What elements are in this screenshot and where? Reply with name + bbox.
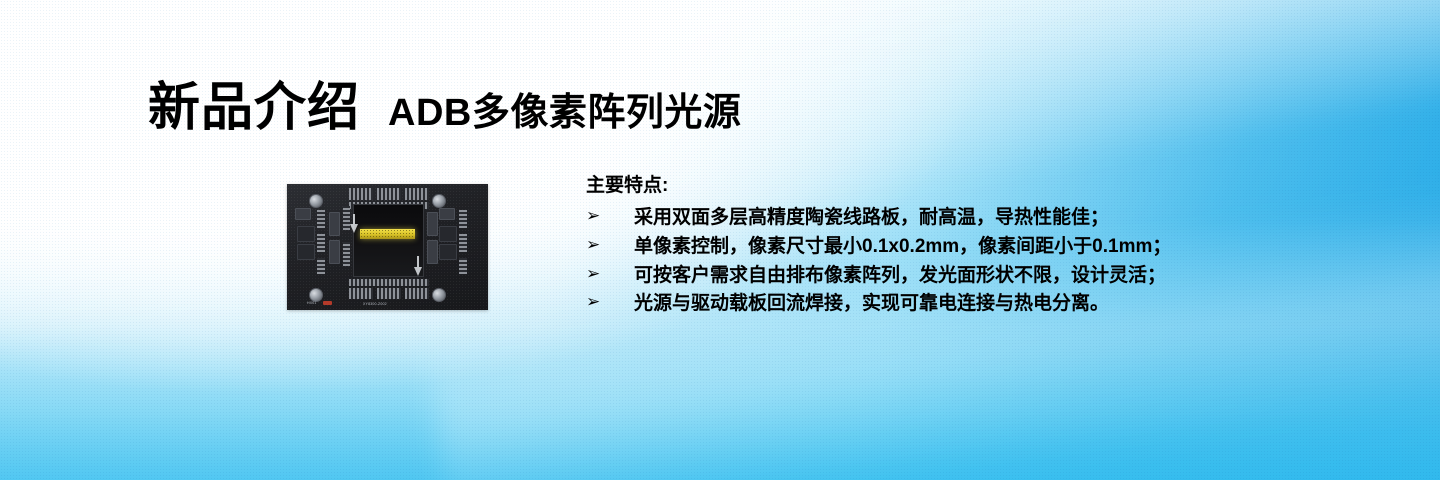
feature-item: ➢ 光源与驱动载板回流焊接，实现可靠电连接与热电分离。 [586, 292, 1326, 316]
title-subtitle-text: ADB多像素阵列光源 [388, 94, 741, 132]
pad-row-left-2 [317, 234, 325, 252]
led-pixel-array [360, 229, 414, 238]
page-title: 新品介绍 ADB多像素阵列光源 [148, 82, 741, 134]
feature-text: 光源与驱动载板回流焊接，实现可靠电连接与热电分离。 [634, 292, 1109, 316]
mounting-hole-bottom-right [432, 288, 446, 302]
pad-row-bottom-1 [349, 288, 373, 299]
component-left-5 [329, 240, 340, 264]
product-photo: HX01 XY8300-Z002 [287, 184, 488, 310]
component-right-5 [427, 240, 438, 264]
arrow-bullet-icon: ➢ [586, 292, 634, 313]
feature-text: 单像素控制，像素尺寸最小0.1x0.2mm，像素间距小于0.1mm； [634, 235, 1171, 259]
pad-row-left-1 [317, 210, 325, 228]
pad-row-bottom-strip [349, 279, 429, 286]
title-main-text: 新品介绍 [148, 82, 360, 134]
slide-root: 新品介绍 ADB多像素阵列光源 [0, 0, 1440, 480]
feature-text: 采用双面多层高精度陶瓷线路板，耐高温，导热性能佳； [634, 206, 1109, 230]
silkscreen-label-left: HX01 [307, 301, 317, 305]
component-left-2 [297, 226, 315, 242]
component-left-3 [297, 244, 315, 260]
led-cavity [353, 204, 423, 277]
component-left-4 [329, 212, 340, 236]
component-right-4 [427, 212, 438, 236]
pad-row-top-2 [377, 188, 401, 200]
feature-item: ➢ 可按客户需求自由排布像素阵列，发光面形状不限，设计灵活； [586, 264, 1326, 288]
component-right-3 [439, 244, 457, 260]
pad-row-left-3 [317, 258, 325, 274]
silkscreen-label-center: XY8300-Z002 [363, 302, 387, 306]
arrow-bullet-icon: ➢ [586, 235, 634, 256]
component-right-1 [439, 208, 455, 220]
pad-row-bottom-3 [405, 288, 429, 299]
pad-row-top-3 [405, 188, 429, 200]
silkscreen-red-marker [323, 301, 332, 305]
feature-text: 可按客户需求自由排布像素阵列，发光面形状不限，设计灵活； [634, 264, 1166, 288]
features-heading: 主要特点: [586, 176, 1326, 195]
arrow-bottom-head [414, 267, 422, 276]
pad-row-left-4 [343, 206, 350, 230]
arrow-bottom-stem [417, 256, 419, 267]
pad-row-bottom-2 [377, 288, 401, 299]
component-right-2 [439, 226, 457, 242]
pad-row-right-1 [459, 210, 467, 228]
arrow-top-stem [353, 214, 355, 224]
mounting-hole-top-right [432, 194, 446, 208]
pad-row-right-2 [459, 234, 467, 252]
mounting-hole-top-left [309, 194, 323, 208]
component-left-1 [295, 208, 311, 220]
feature-item: ➢ 采用双面多层高精度陶瓷线路板，耐高温，导热性能佳； [586, 206, 1326, 230]
pad-row-right-3 [459, 258, 467, 274]
features-block: 主要特点: ➢ 采用双面多层高精度陶瓷线路板，耐高温，导热性能佳； ➢ 单像素控… [586, 176, 1326, 321]
arrow-bullet-icon: ➢ [586, 206, 634, 227]
arrow-bullet-icon: ➢ [586, 264, 634, 285]
mounting-hole-bottom-left [309, 288, 323, 302]
led-pixel-dots [360, 229, 414, 238]
pad-row-left-5 [343, 242, 350, 266]
feature-item: ➢ 单像素控制，像素尺寸最小0.1x0.2mm，像素间距小于0.1mm； [586, 235, 1326, 259]
arrow-top-head [350, 224, 358, 233]
pad-row-top-1 [349, 188, 373, 200]
